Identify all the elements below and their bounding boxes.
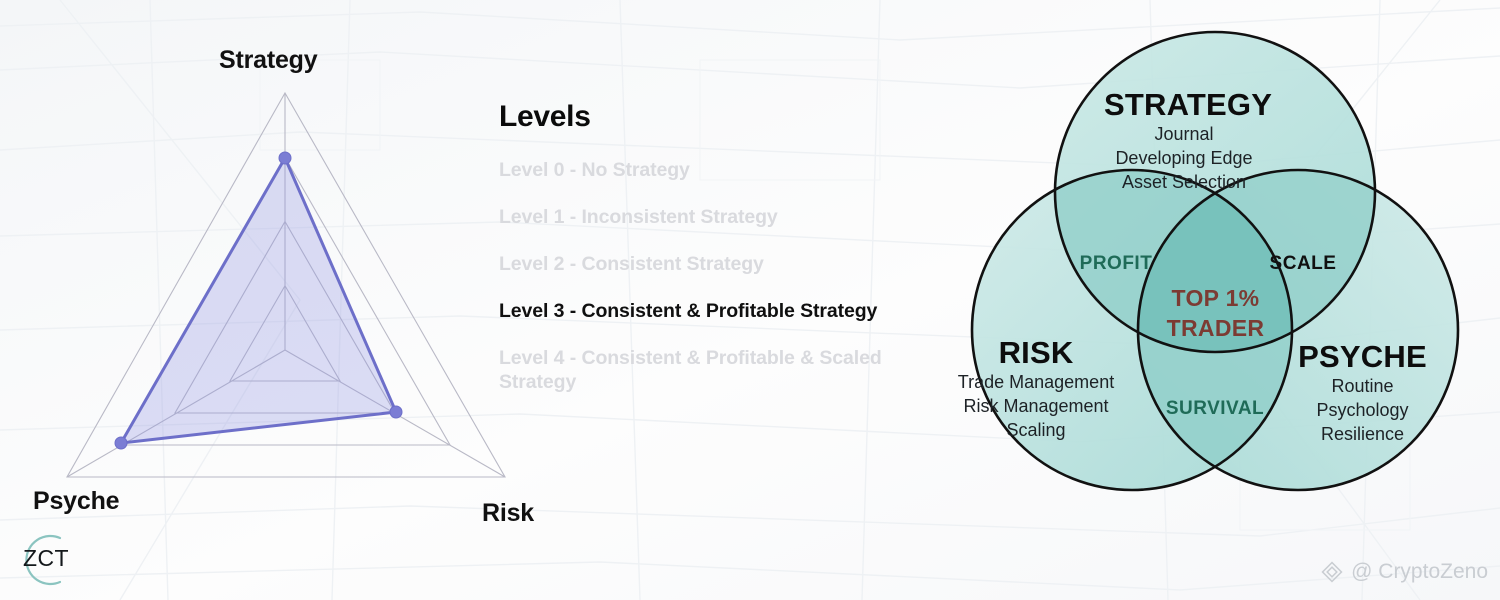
level-item-2[interactable]: Level 2 - Consistent Strategy: [499, 252, 919, 276]
radar-axis-label-strategy: Strategy: [219, 46, 317, 75]
radar-point-risk: [390, 406, 402, 418]
level-item-3[interactable]: Level 3 - Consistent & Profitable Strate…: [499, 299, 919, 323]
radar-data-area: [121, 158, 396, 443]
radar-chart-panel: Strategy Psyche Risk: [0, 0, 580, 600]
venn-overlap-profit: PROFIT: [1066, 253, 1166, 275]
venn-items-psyche: Routine Psychology Resilience: [1285, 374, 1440, 446]
venn-group-strategy: STRATEGY Journal Developing Edge Asset S…: [1104, 88, 1264, 194]
watermark: @ CryptoZeno: [1320, 560, 1488, 584]
venn-overlap-survival: SURVIVAL: [1140, 398, 1290, 420]
infographic-canvas: Strategy Psyche Risk Levels Level 0 - No…: [0, 0, 1500, 600]
venn-heading-psyche: PSYCHE: [1285, 340, 1440, 374]
venn-diagram-panel: STRATEGY Journal Developing Edge Asset S…: [940, 0, 1500, 600]
level-item-0[interactable]: Level 0 - No Strategy: [499, 158, 919, 182]
watermark-handle: @ CryptoZeno: [1351, 560, 1488, 584]
venn-overlap-scale: SCALE: [1253, 253, 1353, 275]
level-item-1[interactable]: Level 1 - Inconsistent Strategy: [499, 205, 919, 229]
venn-group-psyche: PSYCHE Routine Psychology Resilience: [1285, 340, 1440, 446]
venn-center-label: TOP 1% TRADER: [1148, 283, 1283, 343]
radar-axis-label-risk: Risk: [482, 499, 534, 528]
venn-heading-risk: RISK: [946, 336, 1126, 370]
venn-group-risk: RISK Trade Management Risk Management Sc…: [946, 336, 1126, 442]
level-item-4[interactable]: Level 4 - Consistent & Profitable & Scal…: [499, 346, 919, 394]
venn-items-strategy: Journal Developing Edge Asset Selection: [1104, 122, 1264, 194]
diamond-icon: [1320, 560, 1344, 584]
radar-point-psyche: [115, 437, 127, 449]
venn-heading-strategy: STRATEGY: [1104, 88, 1264, 122]
venn-items-risk: Trade Management Risk Management Scaling: [946, 370, 1126, 442]
radar-axis-label-psyche: Psyche: [33, 487, 119, 516]
levels-panel: Levels Level 0 - No Strategy Level 1 - I…: [499, 100, 959, 417]
zct-logo: ZCT: [10, 528, 76, 592]
logo-text: ZCT: [23, 545, 69, 572]
radar-point-strategy: [279, 152, 291, 164]
levels-title: Levels: [499, 100, 959, 134]
